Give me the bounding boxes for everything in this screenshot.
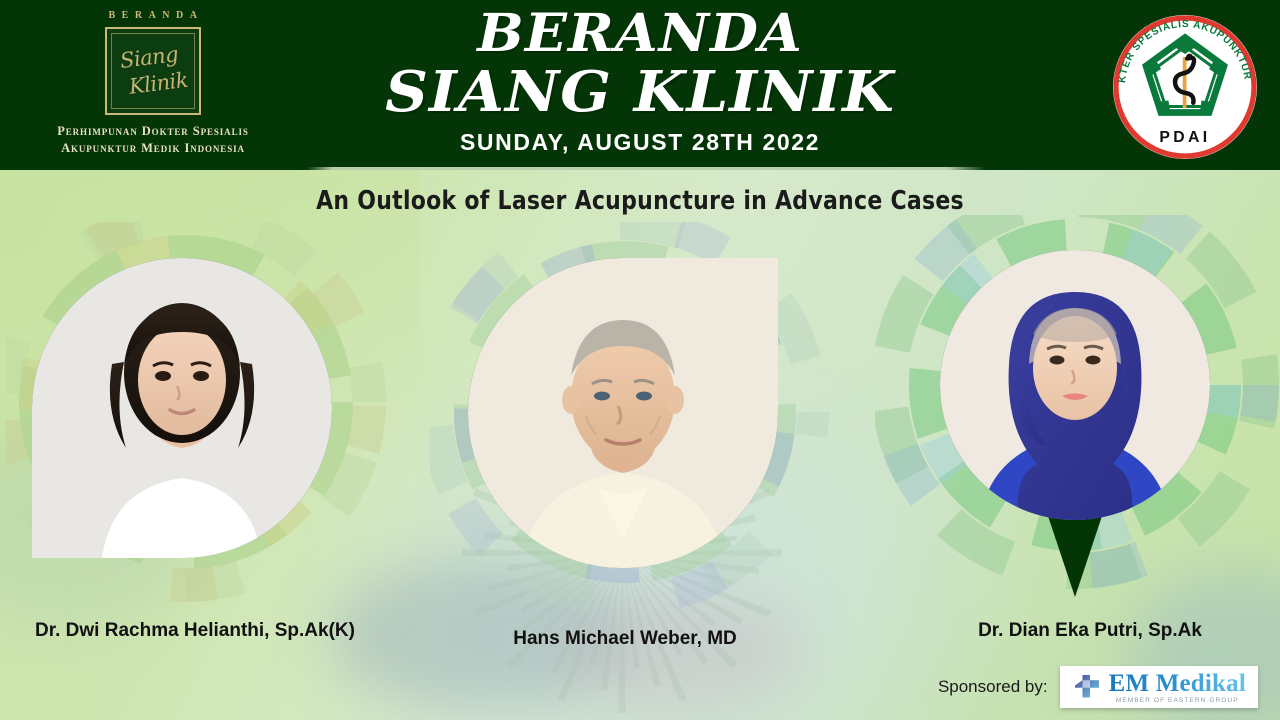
- medical-cross-icon: [1072, 672, 1102, 702]
- brand-org-line2: Akupunktur Medik Indonesia: [22, 140, 284, 157]
- brand-org-line1: Perhimpunan Dokter Spesialis: [22, 123, 284, 140]
- event-title-line1: BERANDA: [322, 8, 958, 60]
- sponsor-section: Sponsored by: EM Medikal MEMBER OF EASTE…: [938, 666, 1258, 709]
- event-title: BERANDA SIANG KLINIK SUNDAY, AUGUST 28TH…: [340, 8, 940, 156]
- header-bar: BERANDA Siang Klinik Perhimpunan Dokter …: [0, 0, 1280, 170]
- speaker-photo-frame: [32, 258, 332, 558]
- session-title: An Outlook of Laser Acupuncture in Advan…: [38, 186, 1241, 216]
- brand-script-siang: Siang: [119, 44, 179, 72]
- poster-canvas: BERANDA Siang Klinik Perhimpunan Dokter …: [0, 0, 1280, 720]
- event-title-line2: SIANG KLINIK: [322, 64, 958, 120]
- speaker-photo-frame: [468, 258, 778, 568]
- brand-script-klinik: Klinik: [128, 70, 189, 98]
- speaker-name: Dr. Dian Eka Putri, Sp.Ak: [895, 620, 1280, 642]
- speaker-name: Hans Michael Weber, MD: [430, 628, 820, 650]
- sponsor-logo-card[interactable]: EM Medikal MEMBER OF EASTERN GROUP: [1060, 666, 1258, 709]
- sponsor-logo-name: EM Medikal: [1109, 671, 1246, 696]
- pdai-acronym: PDAI: [1159, 129, 1210, 146]
- event-date: SUNDAY, AUGUST 28TH 2022: [340, 129, 940, 156]
- speaker-name: Dr. Dwi Rachma Helianthi, Sp.Ak(K): [0, 620, 390, 642]
- portrait-speaker-2: [468, 258, 778, 568]
- portrait-speaker-1: [32, 258, 332, 558]
- portrait-speaker-3: [940, 250, 1210, 520]
- pdai-logo: PERHIMPUNAN DOKTER SPESIALIS AKUPUNKTUR …: [1110, 12, 1260, 162]
- speaker-photo-frame: [940, 250, 1210, 520]
- sponsor-label: Sponsored by:: [938, 677, 1048, 697]
- sponsor-logo-tagline: MEMBER OF EASTERN GROUP: [1109, 698, 1246, 705]
- brand-logo-box: Siang Klinik: [105, 27, 201, 115]
- brand-kicker: BERANDA: [28, 10, 284, 21]
- brand-logo: BERANDA Siang Klinik Perhimpunan Dokter …: [22, 4, 284, 166]
